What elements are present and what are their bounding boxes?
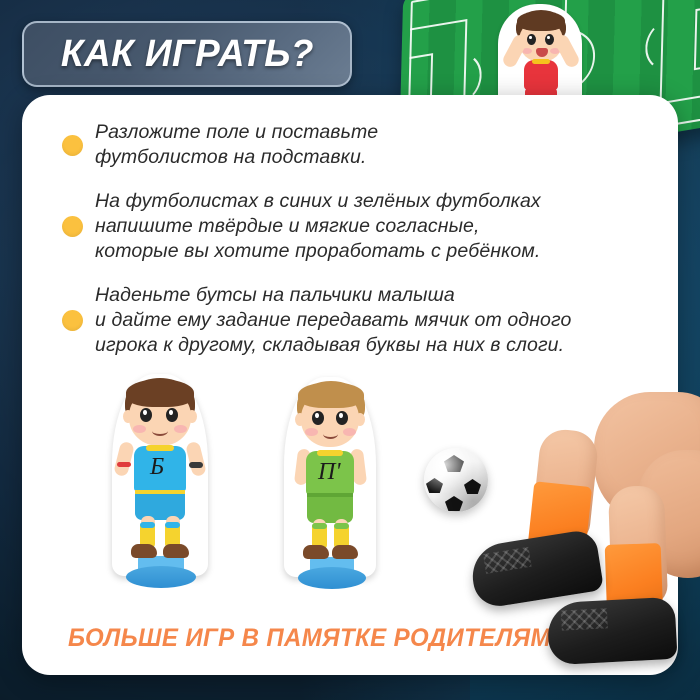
green-player-shorts (307, 493, 353, 523)
list-item-line: напишите твёрдые и мягкие согласные, (95, 214, 541, 239)
bullet-dot-icon (62, 135, 83, 156)
green-player-stand (298, 567, 366, 589)
list-item-text: На футболистах в синих и зелёных футболк… (95, 189, 541, 265)
red-player-eye-left (527, 34, 536, 45)
list-item-text: Наденьте бутсы на пальчики малыша и дайт… (95, 283, 571, 359)
blue-player-shoe-right (163, 544, 189, 558)
green-player-cheek-right (343, 428, 356, 436)
blue-player-shorts-stripe (135, 490, 185, 494)
green-player-mouth (323, 429, 338, 439)
blue-player-shoe-left (131, 544, 157, 558)
list-item-text: Разложите поле и поставьте футболистов н… (95, 120, 378, 171)
blue-player-eye-right (166, 408, 178, 422)
blue-player-sock-band-right (165, 522, 180, 528)
blue-player-watch (189, 462, 203, 468)
blue-player-eye-left (140, 408, 152, 422)
red-player-collar (532, 59, 550, 64)
page-title-pill: КАК ИГРАТЬ? (22, 21, 352, 87)
green-player-eye-right (336, 411, 348, 425)
mini-boot-back (546, 597, 677, 666)
blue-player-shorts (135, 490, 185, 520)
blue-player-cheek-left (133, 425, 146, 433)
list-item-line: игрока к другому, складывая буквы на них… (95, 333, 571, 358)
green-player-jersey-letter: П' (318, 459, 340, 486)
red-player-jersey (524, 60, 558, 90)
blue-player-fringe (126, 379, 194, 407)
blue-player-cheek-right (174, 425, 187, 433)
page-title: КАК ИГРАТЬ? (61, 33, 314, 76)
list-item-line: которые вы хотите проработать с ребёнком… (95, 239, 541, 264)
green-player-ear-right (355, 413, 365, 426)
poster-root: КАК ИГРАТЬ? (0, 0, 700, 700)
field-goal-box-right (694, 5, 700, 70)
green-player-shorts-stripe (307, 493, 353, 497)
blue-player-jersey-letter: Б (150, 454, 164, 481)
hand-with-finger-boots (520, 392, 700, 682)
red-player-eye-right (545, 34, 554, 45)
blue-player-mouth (152, 426, 168, 436)
bullet-dot-icon (62, 310, 83, 331)
list-item-line: футболистов на подставки. (95, 145, 378, 170)
figure-green-player: П' (270, 373, 390, 603)
footer-banner-text: БОЛЬШЕ ИГР В ПАМЯТКЕ РОДИТЕЛЯМ! (68, 624, 559, 653)
blue-player-stand (126, 566, 196, 588)
list-item-line: На футболистах в синих и зелёных футболк… (95, 189, 541, 214)
list-item: На футболистах в синих и зелёных футболк… (62, 189, 662, 265)
ball-shading (424, 448, 488, 512)
list-item-line: и дайте ему задание передавать мячик от … (95, 308, 571, 333)
green-player-fringe (298, 382, 364, 408)
list-item: Разложите поле и поставьте футболистов н… (62, 120, 662, 171)
green-player-sock-band-left (312, 523, 327, 529)
list-item-line: Разложите поле и поставьте (95, 120, 378, 145)
green-player-cheek-left (305, 428, 318, 436)
green-player-eye-left (312, 411, 324, 425)
green-player-shoe-left (303, 545, 329, 559)
bullet-dot-icon (62, 216, 83, 237)
instruction-list: Разложите поле и поставьте футболистов н… (62, 120, 662, 377)
blue-player-wristband (117, 462, 131, 467)
blue-player-sock-band-left (140, 522, 155, 528)
boot-lace-texture (483, 547, 532, 574)
blue-player-collar (146, 445, 174, 451)
list-item: Наденьте бутсы на пальчики малыша и дайт… (62, 283, 662, 359)
red-player-fringe (517, 11, 565, 31)
figure-blue-player: Б (100, 370, 220, 600)
soccer-ball (424, 448, 488, 512)
blue-player-ear-right (187, 410, 197, 423)
green-player-shoe-right (332, 545, 358, 559)
green-player-sock-band-right (334, 523, 349, 529)
boot-lace-texture (561, 608, 608, 630)
list-item-line: Наденьте бутсы на пальчики малыша (95, 283, 571, 308)
green-player-collar (317, 450, 343, 456)
blue-player-ear-left (123, 410, 133, 423)
green-player-ear-left (295, 413, 305, 426)
